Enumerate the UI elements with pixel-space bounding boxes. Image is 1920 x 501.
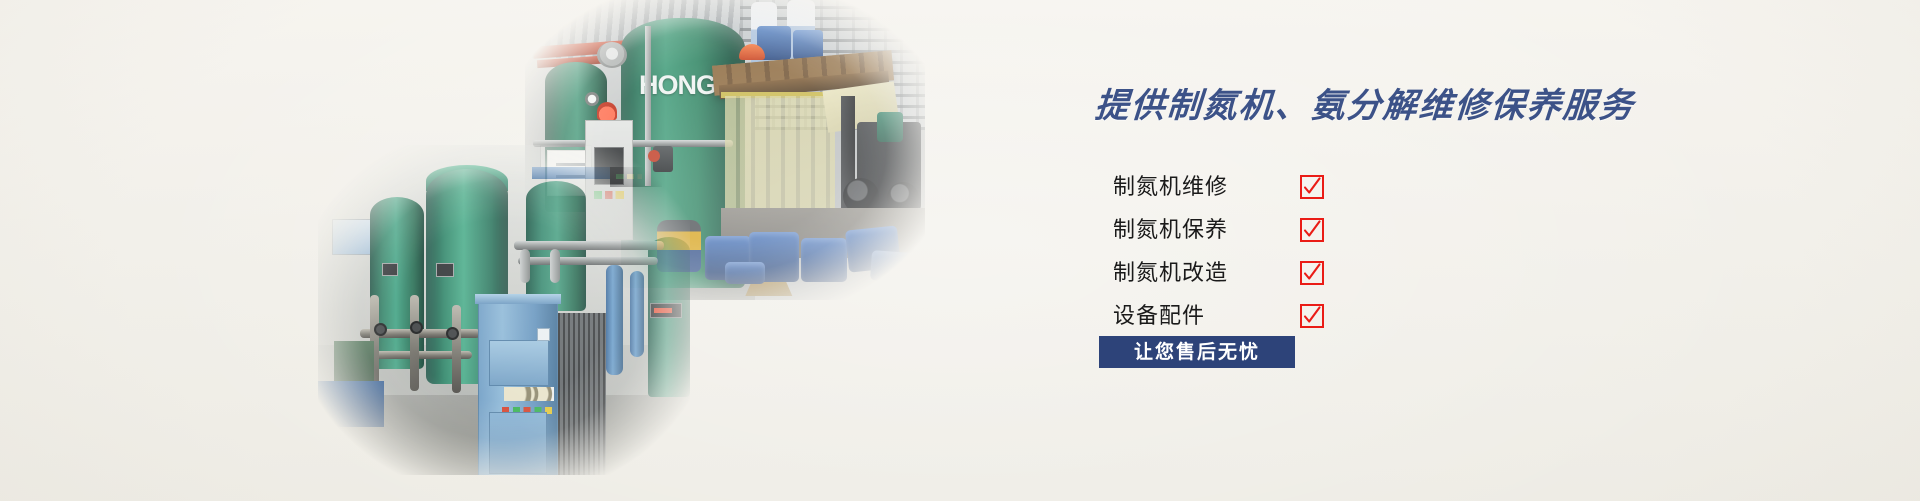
service-list: 制氮机维修 制氮机保养 制氮机改造: [1113, 172, 1473, 344]
analog-gauges: [504, 387, 554, 401]
banner-headline: 提供制氮机、氨分解维修保养服务: [1093, 78, 1636, 127]
check-box-icon: [1300, 175, 1324, 199]
service-item-retrofit[interactable]: 制氮机改造: [1113, 258, 1473, 290]
pressure-gauge: [585, 92, 599, 106]
vessel-nameplate: [436, 263, 454, 277]
manifold-valve: [446, 327, 459, 340]
service-item-label: 制氮机改造: [1113, 258, 1228, 290]
service-item-label: 制氮机维修: [1113, 172, 1228, 204]
manifold-valve: [374, 323, 387, 336]
photo-bottom-scene: [318, 145, 690, 475]
blue-control-cabinet: [478, 301, 558, 475]
overhead-control-panel: [610, 167, 662, 187]
cabinet-instrument-panel: [489, 340, 549, 386]
cabinet-access-door: [489, 412, 547, 474]
warning-beacon: [597, 102, 617, 120]
blue-filter-housing: [630, 271, 644, 357]
cabinet-badge: [537, 328, 550, 341]
service-item-label: 设备配件: [1113, 301, 1205, 333]
condenser-coil: [558, 313, 606, 475]
after-sales-cta-button[interactable]: 让您售后无忧: [1099, 336, 1295, 368]
cabinet-top: [475, 294, 561, 304]
vessel-nameplate: [382, 263, 398, 276]
check-box-icon: [1300, 218, 1324, 242]
process-pipe: [518, 257, 658, 265]
cta-button-label: 让您售后无忧: [1134, 343, 1260, 362]
blue-filter-housing: [606, 265, 623, 375]
pvc-strip-curtain: [725, 96, 835, 216]
tank-flange: [597, 42, 627, 68]
manifold-valve: [410, 321, 423, 334]
service-banner: HONG: [0, 0, 1920, 501]
check-box-icon: [1300, 304, 1324, 328]
pipe-elbow: [520, 249, 530, 283]
service-item-maintenance[interactable]: 制氮机保养: [1113, 215, 1473, 247]
forklift-cab: [877, 112, 903, 142]
digital-readout: [650, 303, 682, 318]
blue-base-frame: [318, 381, 384, 427]
check-box-icon: [1300, 261, 1324, 285]
pipe-elbow: [550, 249, 560, 283]
service-item-repair[interactable]: 制氮机维修: [1113, 172, 1473, 204]
service-item-label: 制氮机保养: [1113, 215, 1228, 247]
psa-nitrogen-skid-photo: [318, 145, 690, 475]
content-panel: 提供制氮机、氨分解维修保养服务 制氮机维修 制氮机保养: [1095, 0, 1695, 501]
process-pipe: [514, 241, 664, 250]
service-item-parts[interactable]: 设备配件: [1113, 301, 1473, 333]
blue-jerry-can-group: [705, 218, 925, 286]
